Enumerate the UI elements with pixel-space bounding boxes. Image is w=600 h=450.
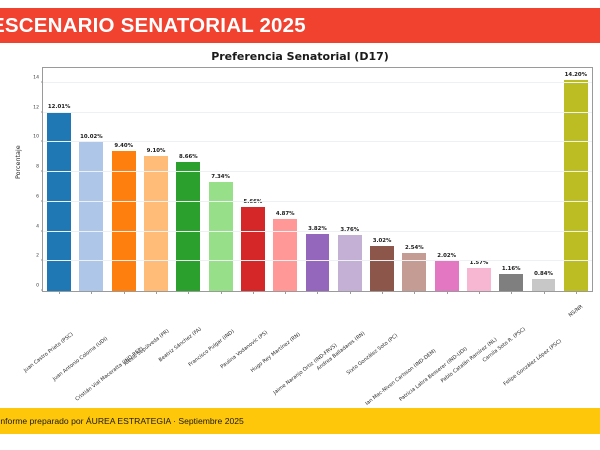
bar-value-label: 10.02% bbox=[80, 134, 102, 140]
y-tick-mark bbox=[41, 260, 44, 261]
bar-slot: 1.57% bbox=[463, 68, 495, 291]
bar-slot: 12.01% bbox=[43, 68, 75, 291]
y-tick-label: 6 bbox=[36, 194, 39, 199]
bar[interactable]: 4.87% bbox=[273, 219, 297, 291]
bar-value-label: 1.16% bbox=[502, 266, 521, 272]
bar[interactable]: 7.34% bbox=[209, 182, 233, 291]
bar-value-label: 12.01% bbox=[48, 104, 70, 110]
y-tick-label: 2 bbox=[36, 254, 39, 259]
y-tick-mark bbox=[41, 290, 44, 291]
bar-slot: 1.16% bbox=[495, 68, 527, 291]
y-tick-mark bbox=[41, 81, 44, 82]
bar[interactable]: 3.82% bbox=[306, 234, 330, 291]
bar-slot: 2.54% bbox=[398, 68, 430, 291]
bar-value-label: 7.34% bbox=[211, 174, 230, 180]
y-gridline bbox=[43, 171, 592, 172]
x-tick-label: Felipe González López (PSC) bbox=[503, 338, 563, 387]
bar-slot: 7.34% bbox=[204, 68, 236, 291]
report-header-banner: ESCENARIO SENATORIAL 2025 bbox=[0, 8, 600, 43]
chart-title: Preferencia Senatorial (D17) bbox=[0, 50, 600, 63]
bar-slot: 8.66% bbox=[172, 68, 204, 291]
bar-value-label: 14.20% bbox=[565, 72, 587, 78]
bar[interactable]: 9.40% bbox=[112, 151, 136, 291]
bar-value-label: 9.10% bbox=[147, 148, 166, 154]
y-tick-mark bbox=[41, 111, 44, 112]
y-tick-label: 8 bbox=[36, 165, 39, 170]
y-gridline bbox=[43, 141, 592, 142]
y-gridline bbox=[43, 231, 592, 232]
bar[interactable]: 3.02% bbox=[370, 246, 394, 291]
bar[interactable]: 3.76% bbox=[338, 235, 362, 291]
y-gridline bbox=[43, 260, 592, 261]
report-slide: ESCENARIO SENATORIAL 2025 Preferencia Se… bbox=[0, 0, 600, 450]
bar-slot: 3.76% bbox=[334, 68, 366, 291]
plot-area: 12.01%10.02%9.40%9.10%8.66%7.34%5.66%4.8… bbox=[42, 67, 593, 292]
bar-slot: 0.84% bbox=[527, 68, 559, 291]
bar-slot: 10.02% bbox=[75, 68, 107, 291]
bar-value-label: 3.02% bbox=[373, 238, 392, 244]
y-tick-mark bbox=[41, 230, 44, 231]
bar-value-label: 4.87% bbox=[276, 211, 295, 217]
bar-value-label: 8.66% bbox=[179, 154, 198, 160]
bar-slot: 9.40% bbox=[108, 68, 140, 291]
x-tick-label: NS/NR bbox=[567, 304, 583, 319]
bar[interactable]: 2.54% bbox=[402, 253, 426, 291]
y-tick-mark bbox=[41, 200, 44, 201]
y-gridline bbox=[43, 82, 592, 83]
bar[interactable]: 0.84% bbox=[532, 279, 556, 291]
y-tick-label: 4 bbox=[36, 224, 39, 229]
bar-value-label: 5.66% bbox=[244, 199, 263, 205]
x-axis-labels: Juan Castro Prieto (PSC)Juan Antonio Col… bbox=[42, 294, 593, 389]
y-tick-mark bbox=[41, 171, 44, 172]
bar-value-label: 0.84% bbox=[534, 271, 553, 277]
bar-slot: 14.20% bbox=[560, 68, 592, 291]
bar-slot: 4.87% bbox=[269, 68, 301, 291]
y-gridline bbox=[43, 112, 592, 113]
y-tick-label: 0 bbox=[36, 284, 39, 289]
bar-slot: 3.82% bbox=[301, 68, 333, 291]
y-axis-label: Porcentaje bbox=[14, 145, 22, 179]
bar[interactable]: 8.66% bbox=[176, 162, 200, 291]
bars-layer: 12.01%10.02%9.40%9.10%8.66%7.34%5.66%4.8… bbox=[43, 68, 592, 291]
bar-value-label: 2.02% bbox=[437, 253, 456, 259]
bar-slot: 9.10% bbox=[140, 68, 172, 291]
bar[interactable]: 9.10% bbox=[144, 156, 168, 291]
bar[interactable]: 2.02% bbox=[435, 261, 459, 291]
report-footer-text: Informe preparado por ÁUREA ESTRATEGIA ·… bbox=[0, 416, 244, 426]
bar-value-label: 2.54% bbox=[405, 245, 424, 251]
y-tick-label: 12 bbox=[33, 105, 39, 110]
report-footer-banner: Informe preparado por ÁUREA ESTRATEGIA ·… bbox=[0, 408, 600, 434]
y-tick-mark bbox=[41, 141, 44, 142]
bar[interactable]: 5.66% bbox=[241, 207, 265, 291]
bar[interactable]: 1.16% bbox=[499, 274, 523, 291]
chart-figure: Preferencia Senatorial (D17) Porcentaje … bbox=[0, 45, 600, 405]
bar-slot: 5.66% bbox=[237, 68, 269, 291]
y-tick-label: 10 bbox=[33, 135, 39, 140]
y-tick-label: 14 bbox=[33, 75, 39, 80]
report-title: ESCENARIO SENATORIAL 2025 bbox=[0, 14, 306, 38]
bar-value-label: 9.40% bbox=[114, 143, 133, 149]
bar-slot: 2.02% bbox=[431, 68, 463, 291]
bar[interactable]: 1.57% bbox=[467, 268, 491, 291]
y-gridline bbox=[43, 201, 592, 202]
bar-slot: 3.02% bbox=[366, 68, 398, 291]
bar[interactable]: 10.02% bbox=[79, 142, 103, 291]
